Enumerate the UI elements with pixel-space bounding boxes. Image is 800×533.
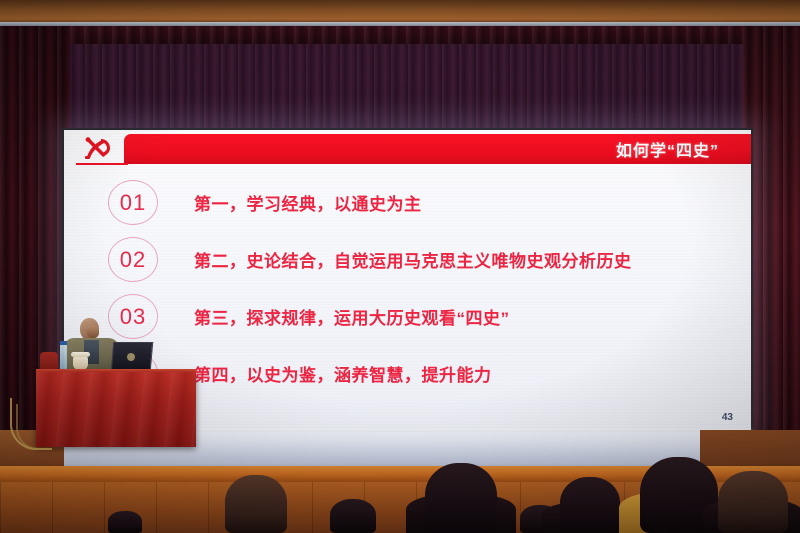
bottle-cap xyxy=(60,341,67,345)
slide-item-number: 02 xyxy=(120,247,146,273)
slide-title-bar: 如何学“四史” xyxy=(124,134,751,164)
slide-list-item: 01第一，学习经典，以通史为主 xyxy=(64,174,751,231)
red-table-cloth xyxy=(36,372,196,447)
slide-item-text: 第三，探求规律，运用大历史观看“四史” xyxy=(194,304,510,329)
water-bottle xyxy=(60,344,67,370)
slide-header: 如何学“四史” xyxy=(64,134,751,164)
audience-member xyxy=(330,499,376,533)
lecture-hall-photo: 如何学“四史” 01第一，学习经典，以通史为主02第二，史论结合，自觉运用马克思… xyxy=(0,0,800,533)
speaker-face xyxy=(87,326,99,338)
slide-page-number: 43 xyxy=(722,412,733,423)
slide-bullet-list: 01第一，学习经典，以通史为主02第二，史论结合，自觉运用马克思主义唯物史观分析… xyxy=(64,174,751,402)
tea-cup xyxy=(73,356,88,370)
audience-silhouettes xyxy=(0,455,800,533)
hammer-and-sickle-icon xyxy=(76,133,120,165)
audience-member xyxy=(225,475,287,533)
slide-item-number-circle: 02 xyxy=(108,237,158,282)
slide-item-number-circle: 01 xyxy=(108,180,158,225)
audience-member xyxy=(718,471,788,533)
audience-member xyxy=(425,463,497,533)
audience-member xyxy=(560,477,620,533)
laptop-logo-icon xyxy=(127,353,135,361)
slide-list-item: 03第三，探求规律，运用大历史观看“四史” xyxy=(64,288,751,345)
slide-item-number: 01 xyxy=(120,190,146,216)
slide-item-text: 第一，学习经典，以通史为主 xyxy=(194,190,422,215)
header-underline xyxy=(76,163,128,165)
slide-item-text: 第四，以史为鉴，涵养智慧，提升能力 xyxy=(194,361,492,386)
slide-title: 如何学“四史” xyxy=(616,137,751,161)
curtain-valance xyxy=(0,26,800,44)
audience-member xyxy=(108,511,142,533)
tea-cup-lid xyxy=(71,352,90,357)
slide-item-text: 第二，史论结合，自觉运用马克思主义唯物史观分析历史 xyxy=(194,247,632,272)
slide-list-item: 02第二，史论结合，自觉运用马克思主义唯物史观分析历史 xyxy=(64,231,751,288)
stage-cable-secondary xyxy=(16,404,52,450)
